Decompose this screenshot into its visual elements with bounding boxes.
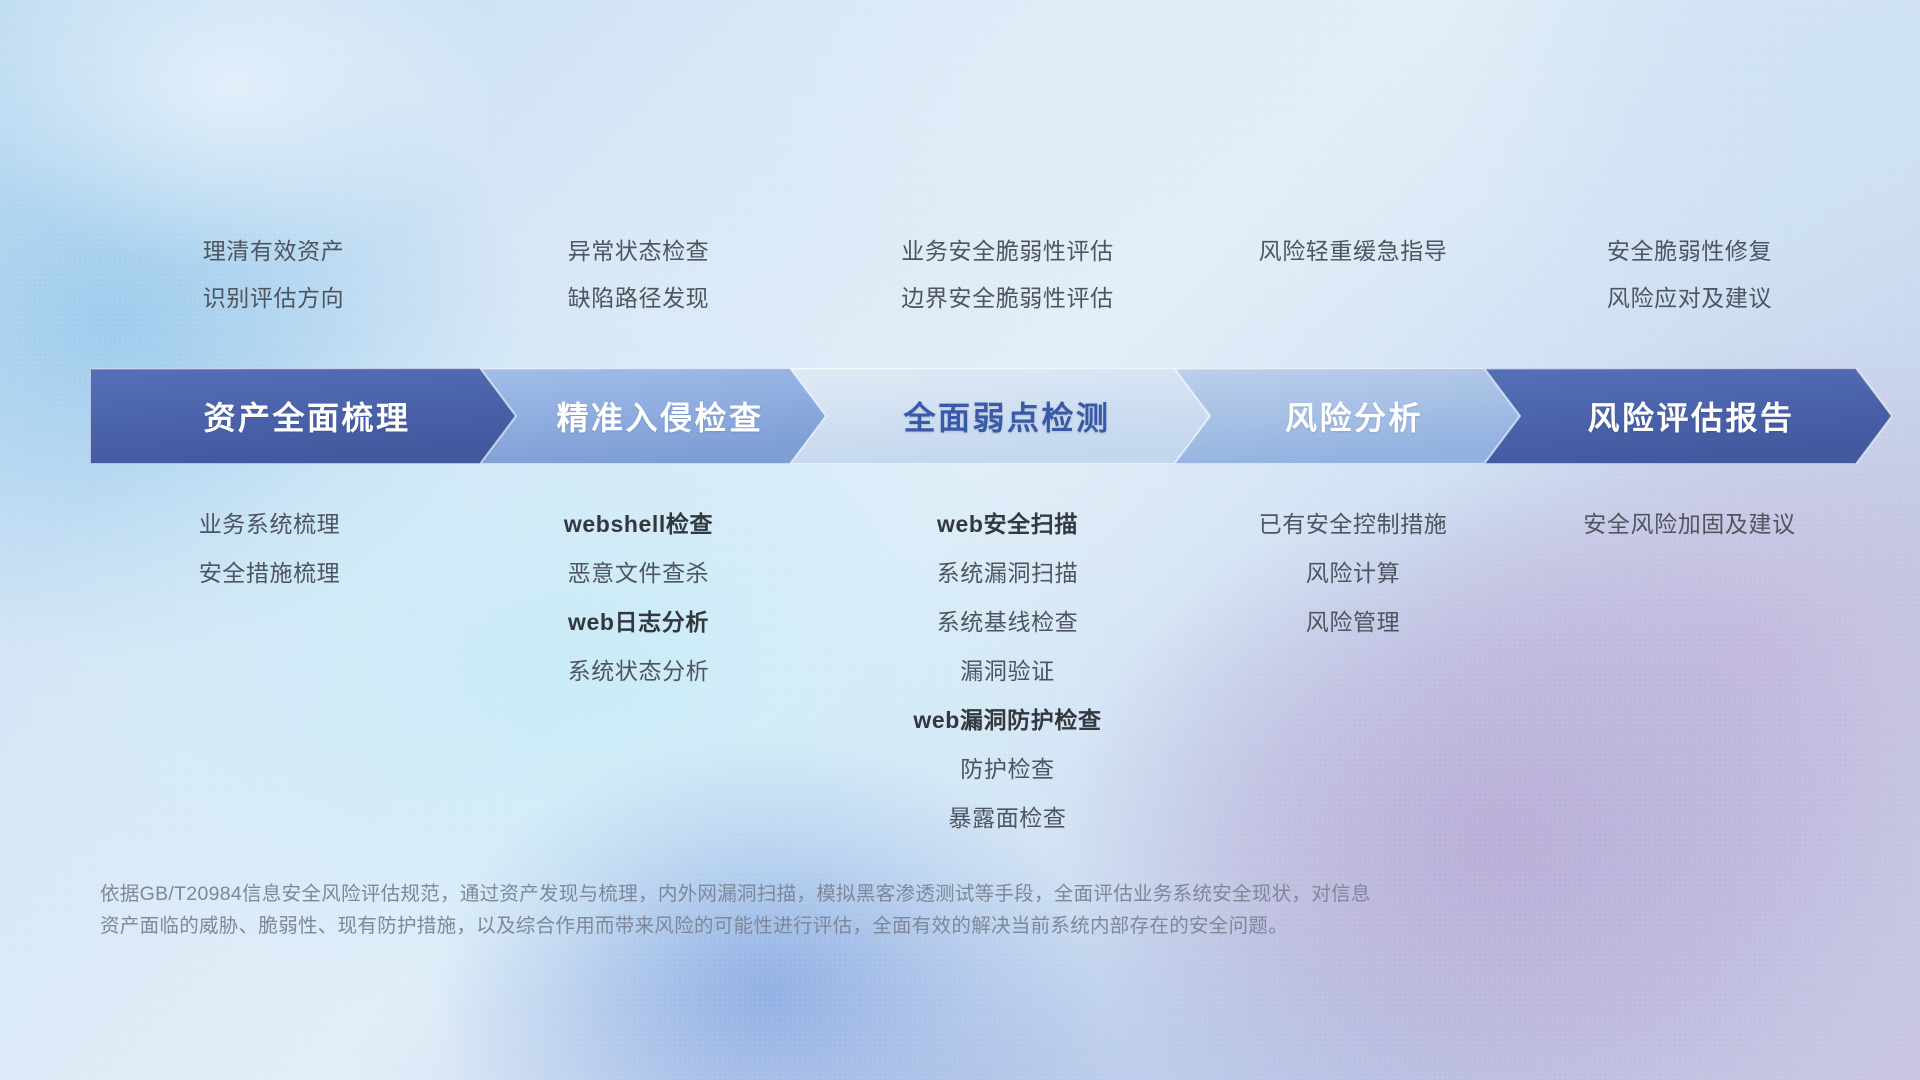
stage-bottom-details: 业务系统梳理安全措施梳理webshell检查恶意文件查杀web日志分析系统状态分…: [96, 500, 1876, 843]
stage-bottom-item: web日志分析: [461, 598, 816, 647]
stage-top-group-risk-analysis: 风险轻重缓急指导: [1203, 228, 1503, 322]
stage-bottom-item: 防护检查: [830, 745, 1185, 794]
process-arrow-label: 风险评估报告: [1587, 393, 1794, 439]
footer-description: 依据GB/T20984信息安全风险评估规范，通过资产发现与梳理，内外网漏洞扫描，…: [100, 878, 1630, 942]
process-arrow-label: 全面弱点检测: [903, 393, 1110, 439]
stage-bottom-group-weakness-detection: web安全扫描系统漏洞扫描系统基线检查漏洞验证web漏洞防护检查防护检查暴露面检…: [830, 500, 1185, 843]
stage-bottom-item: 风险管理: [1203, 598, 1503, 647]
process-arrow-risk-report[interactable]: 风险评估报告: [1484, 368, 1892, 464]
stage-top-item: 业务安全脆弱性评估: [830, 228, 1185, 275]
stage-bottom-item: 系统状态分析: [461, 647, 816, 696]
stage-top-item: 异常状态检查: [461, 228, 816, 275]
stage-bottom-item: 漏洞验证: [830, 647, 1185, 696]
stage-bottom-item: 风险计算: [1203, 549, 1503, 598]
process-arrow-weakness-detection[interactable]: 全面弱点检测: [790, 368, 1218, 464]
stage-bottom-item: 系统漏洞扫描: [830, 549, 1185, 598]
stage-top-item: 风险应对及建议: [1507, 275, 1872, 322]
stage-top-item: 边界安全脆弱性评估: [830, 275, 1185, 322]
stage-bottom-item: 暴露面检查: [830, 794, 1185, 843]
stage-bottom-group-risk-analysis: 已有安全控制措施风险计算风险管理: [1203, 500, 1503, 843]
stage-top-item: 理清有效资产: [96, 228, 451, 275]
process-arrow-label: 资产全面梳理: [203, 393, 410, 439]
stage-bottom-item: 恶意文件查杀: [461, 549, 816, 598]
stage-top-group-asset-inventory: 理清有效资产识别评估方向: [96, 228, 451, 322]
process-arrow-label: 风险分析: [1285, 393, 1423, 439]
stage-top-item: 识别评估方向: [96, 275, 451, 322]
process-arrow-label: 精准入侵检查: [556, 393, 763, 439]
stage-top-group-intrusion-check: 异常状态检查缺陷路径发现: [461, 228, 816, 322]
stage-bottom-item: 系统基线检查: [830, 598, 1185, 647]
stage-top-group-weakness-detection: 业务安全脆弱性评估边界安全脆弱性评估: [830, 228, 1185, 322]
stage-bottom-item: 已有安全控制措施: [1203, 500, 1503, 549]
stage-bottom-group-asset-inventory: 业务系统梳理安全措施梳理: [92, 500, 447, 843]
stage-bottom-item: webshell检查: [461, 500, 816, 549]
stage-bottom-item: web漏洞防护检查: [830, 696, 1185, 745]
process-arrow-intrusion-check[interactable]: 精准入侵检查: [480, 368, 834, 464]
process-arrow-asset-inventory[interactable]: 资产全面梳理: [90, 368, 524, 464]
process-arrow-band: 资产全面梳理 精准入侵检查: [90, 368, 1850, 464]
stage-top-item: 安全脆弱性修复: [1507, 228, 1872, 275]
stage-bottom-item: 业务系统梳理: [92, 500, 447, 549]
process-arrow-risk-analysis[interactable]: 风险分析: [1174, 368, 1528, 464]
stage-top-item: 风险轻重缓急指导: [1203, 228, 1503, 275]
stage-top-descriptions: 理清有效资产识别评估方向异常状态检查缺陷路径发现业务安全脆弱性评估边界安全脆弱性…: [96, 228, 1876, 322]
footer-line-1: 依据GB/T20984信息安全风险评估规范，通过资产发现与梳理，内外网漏洞扫描，…: [100, 878, 1630, 910]
footer-line-2: 资产面临的威胁、脆弱性、现有防护措施，以及综合作用而带来风险的可能性进行评估，全…: [100, 910, 1630, 942]
stage-bottom-item: 安全措施梳理: [92, 549, 447, 598]
stage-bottom-group-intrusion-check: webshell检查恶意文件查杀web日志分析系统状态分析: [461, 500, 816, 843]
slide-stage: 理清有效资产识别评估方向异常状态检查缺陷路径发现业务安全脆弱性评估边界安全脆弱性…: [0, 0, 1920, 1080]
stage-top-group-risk-report: 安全脆弱性修复风险应对及建议: [1507, 228, 1872, 322]
stage-top-item: 缺陷路径发现: [461, 275, 816, 322]
stage-bottom-item: 安全风险加固及建议: [1507, 500, 1872, 549]
stage-bottom-item: web安全扫描: [830, 500, 1185, 549]
stage-bottom-group-risk-report: 安全风险加固及建议: [1507, 500, 1872, 843]
